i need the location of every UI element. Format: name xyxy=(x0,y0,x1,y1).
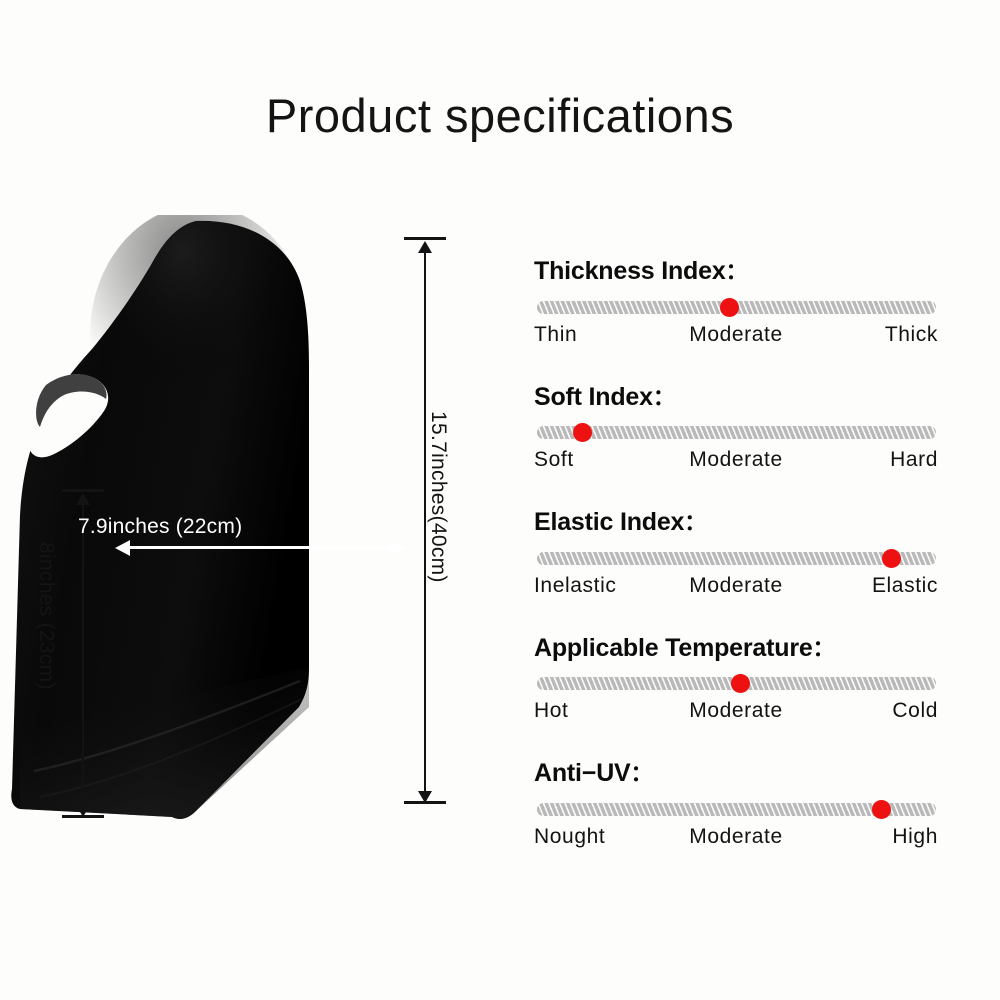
scale-label-left: Soft xyxy=(534,448,574,472)
page-title: Product specifications xyxy=(0,88,1000,143)
spec-scale-labels: Thin Moderate Thick xyxy=(534,323,938,351)
dimension-cap-bottom xyxy=(404,801,446,804)
spec-title-colon: ： xyxy=(631,761,653,786)
spec-title-text: Thickness Index xyxy=(534,257,726,285)
arrow-up-icon xyxy=(418,241,432,253)
dimension-cap-top xyxy=(404,237,446,240)
scale-label-right: Thick xyxy=(885,323,938,347)
spec-scale-labels: Nought Moderate High xyxy=(534,825,938,853)
spec-title: Thickness Index： xyxy=(534,258,938,286)
scale-label-right: Elastic xyxy=(872,574,938,598)
spec-slider[interactable] xyxy=(534,549,938,567)
spec-title-colon: ： xyxy=(726,259,748,284)
spec-anti-uv: Anti−UV： Nought Moderate High xyxy=(534,760,938,853)
spec-elastic-index: Elastic Index： Inelastic Moderate Elasti… xyxy=(534,509,938,602)
slider-marker[interactable] xyxy=(872,800,891,819)
spec-title-text: Applicable Temperature xyxy=(534,634,813,662)
spec-scale-labels: Soft Moderate Hard xyxy=(534,448,938,476)
scale-label-right: High xyxy=(892,825,938,849)
spec-soft-index: Soft Index： Soft Moderate Hard xyxy=(534,384,938,477)
spec-slider[interactable] xyxy=(534,800,938,818)
spec-slider[interactable] xyxy=(534,298,938,316)
dimension-line xyxy=(82,495,84,815)
dimension-line xyxy=(128,546,396,549)
spec-scale-labels: Hot Moderate Cold xyxy=(534,699,938,727)
spec-applicable-temperature: Applicable Temperature： Hot Moderate Col… xyxy=(534,635,938,728)
scale-label-right: Hard xyxy=(890,448,938,472)
dimension-cap-top xyxy=(62,489,104,492)
product-image-panel: 8inches (23cm) 15.7inches(40cm) 7.9inche… xyxy=(0,215,500,855)
spec-title-text: Elastic Index xyxy=(534,508,684,536)
slider-track[interactable] xyxy=(537,426,936,439)
arrow-right-icon xyxy=(390,540,405,556)
spec-title-colon: ： xyxy=(684,510,706,535)
spec-title-colon: ： xyxy=(653,385,675,410)
scale-label-left: Thin xyxy=(534,323,577,347)
spec-slider[interactable] xyxy=(534,674,938,692)
spec-title-colon: ： xyxy=(813,636,835,661)
scale-label-middle: Moderate xyxy=(689,699,783,723)
arrow-up-icon xyxy=(76,493,90,505)
slider-marker[interactable] xyxy=(882,549,901,568)
spec-slider[interactable] xyxy=(534,423,938,441)
spec-title-text: Anti−UV xyxy=(534,759,631,787)
specifications-list: Thickness Index： Thin Moderate Thick Sof… xyxy=(534,258,938,853)
dimension-width-label: 7.9inches (22cm) xyxy=(78,515,242,539)
spec-title: Soft Index： xyxy=(534,384,938,412)
spec-title: Anti−UV： xyxy=(534,760,938,788)
dimension-right-label: 15.7inches(40cm) xyxy=(426,411,450,583)
spec-title: Elastic Index： xyxy=(534,509,938,537)
slider-marker[interactable] xyxy=(720,298,739,317)
scale-label-middle: Moderate xyxy=(689,448,783,472)
scale-label-middle: Moderate xyxy=(689,574,783,598)
dimension-cap-bottom xyxy=(62,815,104,818)
slider-marker[interactable] xyxy=(573,423,592,442)
product-spec-page: Product specifications xyxy=(0,0,1000,1000)
scale-label-middle: Moderate xyxy=(689,323,783,347)
spec-title: Applicable Temperature： xyxy=(534,635,938,663)
spec-scale-labels: Inelastic Moderate Elastic xyxy=(534,574,938,602)
scale-label-left: Hot xyxy=(534,699,568,723)
scale-label-middle: Moderate xyxy=(689,825,783,849)
scale-label-left: Nought xyxy=(534,825,605,849)
spec-title-text: Soft Index xyxy=(534,383,653,411)
scale-label-left: Inelastic xyxy=(534,574,616,598)
slider-track[interactable] xyxy=(537,552,936,565)
dimension-left-label: 8inches (23cm) xyxy=(34,542,58,690)
spec-thickness-index: Thickness Index： Thin Moderate Thick xyxy=(534,258,938,351)
scale-label-right: Cold xyxy=(892,699,938,723)
slider-marker[interactable] xyxy=(731,674,750,693)
arrow-left-icon xyxy=(115,540,130,556)
